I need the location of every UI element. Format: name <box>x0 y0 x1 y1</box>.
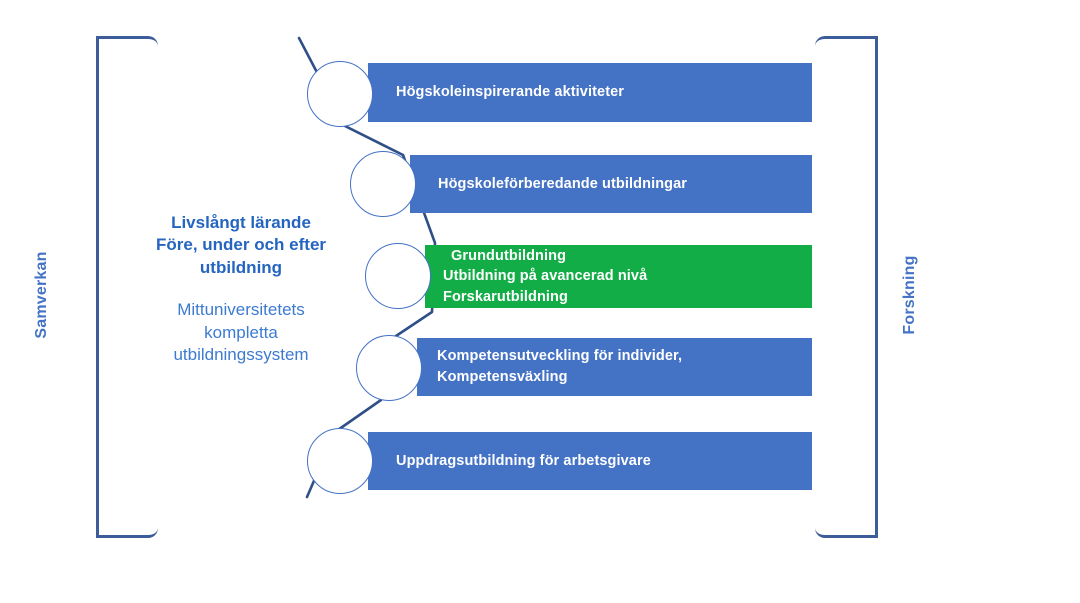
stage-label-3-line-2: Utbildning på avancerad nivå <box>443 266 647 287</box>
bracket-left <box>96 36 158 538</box>
stage-label-1: Högskoleinspirerande aktiviteter <box>396 82 624 103</box>
center-caption: Livslångt lärande Före, under och efter … <box>152 212 330 367</box>
caption-body-line-1: Mittuniversitetets <box>152 299 330 321</box>
stage-bar-3[interactable]: Grundutbildning Utbildning på avancerad … <box>425 245 812 308</box>
stage-bar-5[interactable]: Uppdragsutbildning för arbetsgivare <box>368 432 812 490</box>
stage-label-2: Högskoleförberedande utbildningar <box>438 174 687 195</box>
stage-node-3[interactable] <box>365 243 431 309</box>
caption-body: Mittuniversitetets kompletta utbildnings… <box>152 299 330 366</box>
stage-label-3-line-1: Grundutbildning <box>443 246 647 267</box>
caption-heading-line-1: Livslångt lärande <box>152 212 330 234</box>
stage-label-3: Grundutbildning Utbildning på avancerad … <box>443 246 647 308</box>
caption-body-line-3: utbildningssystem <box>152 344 330 366</box>
diagram-canvas: Samverkan Forskning Livslångt lärande Fö… <box>0 0 1080 603</box>
stage-label-4: Kompetensutveckling för individer, Kompe… <box>437 346 812 387</box>
stage-node-2[interactable] <box>350 151 416 217</box>
caption-heading-line-3: utbildning <box>152 257 330 279</box>
caption-heading: Livslångt lärande Före, under och efter … <box>152 212 330 279</box>
caption-body-line-2: kompletta <box>152 322 330 344</box>
stage-node-5[interactable] <box>307 428 373 494</box>
side-label-samverkan: Samverkan <box>33 235 51 355</box>
stage-node-4[interactable] <box>356 335 422 401</box>
stage-label-3-line-3: Forskarutbildning <box>443 287 647 308</box>
stage-label-5: Uppdragsutbildning för arbetsgivare <box>396 451 651 472</box>
stage-bar-4[interactable]: Kompetensutveckling för individer, Kompe… <box>417 338 812 396</box>
stage-bar-2[interactable]: Högskoleförberedande utbildningar <box>410 155 812 213</box>
bracket-right <box>815 36 878 538</box>
caption-heading-line-2: Före, under och efter <box>152 234 330 256</box>
side-label-forskning: Forskning <box>901 235 919 355</box>
stage-node-1[interactable] <box>307 61 373 127</box>
stage-bar-1[interactable]: Högskoleinspirerande aktiviteter <box>368 63 812 122</box>
